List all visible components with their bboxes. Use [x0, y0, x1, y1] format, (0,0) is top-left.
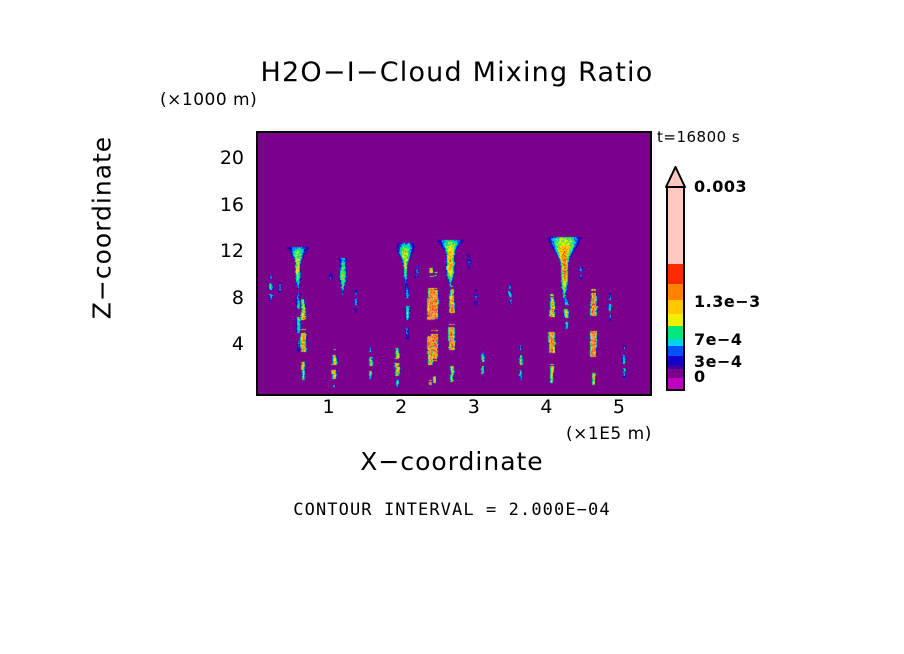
x-tick-3: 3: [454, 396, 494, 418]
colorbar-extend-arrow: [664, 166, 687, 188]
colorbar-segment-2: [668, 264, 683, 285]
y-tick-20: 20: [204, 147, 244, 169]
x-tick-4: 4: [526, 396, 566, 418]
colorbar-segment-3: [668, 284, 683, 300]
chart-title: H2O−I−Cloud Mixing Ratio: [0, 57, 904, 88]
x-tick-2: 2: [381, 396, 421, 418]
colorbar-segment-0: [668, 188, 683, 264]
x-axis-unit-label: (×1E5 m): [566, 424, 652, 444]
colorbar-label-2: 7e−4: [694, 330, 743, 349]
timestamp-label: t=16800 s: [657, 128, 740, 146]
y-tick-12: 12: [204, 240, 244, 262]
contour-plot-area: [256, 131, 652, 396]
colorbar-segment-9: [668, 356, 683, 365]
y-axis-title: Z−coordinate: [88, 103, 117, 353]
y-tick-8: 8: [204, 287, 244, 309]
colorbar-label-max: 0.003: [694, 177, 747, 196]
x-tick-5: 5: [599, 396, 639, 418]
x-axis-title: X−coordinate: [256, 447, 648, 476]
colorbar-label-min: 0: [694, 367, 706, 386]
colorbar-label-1: 1.3e−3: [694, 292, 761, 311]
colorbar-segment-7: [668, 339, 683, 346]
contour-field-canvas: [258, 133, 650, 394]
colorbar-segment-8: [668, 346, 683, 356]
colorbar-segment-6: [668, 326, 683, 339]
contour-interval-caption: CONTOUR INTERVAL = 2.000E−04: [0, 500, 904, 520]
colorbar-segment-11: [668, 369, 683, 378]
colorbar-segment-12: [668, 378, 683, 389]
colorbar-segment-4: [668, 300, 683, 313]
z-axis-unit-label: (×1000 m): [160, 90, 257, 110]
y-tick-16: 16: [204, 194, 244, 216]
colorbar: [666, 186, 685, 391]
colorbar-segment-5: [668, 314, 683, 327]
chart-title-text: H2O−I−Cloud Mixing Ratio: [251, 57, 654, 88]
x-tick-1: 1: [309, 396, 349, 418]
y-tick-4: 4: [204, 333, 244, 355]
